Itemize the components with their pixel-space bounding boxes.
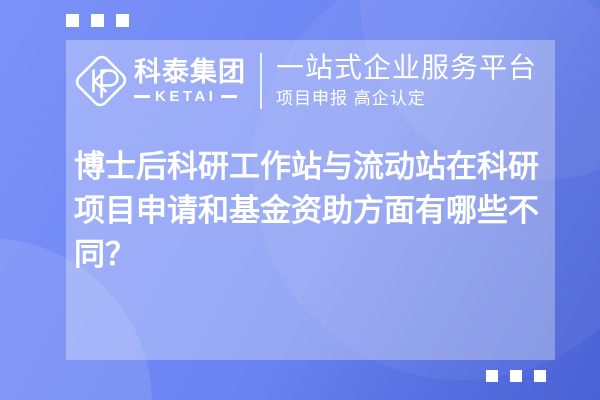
decorative-dots-bottom-right (486, 370, 546, 382)
square-dot-icon (486, 370, 498, 382)
square-dot-icon (91, 14, 104, 27)
brand-divider (260, 53, 262, 109)
brand-rule-right-icon (221, 95, 237, 98)
tagline-block: 一站式企业服务平台 项目申报 高企认定 (276, 52, 537, 109)
brand-rule-left-icon (134, 95, 150, 98)
brand-names: 科泰集团 KETAI (134, 58, 246, 104)
brand-name-cn: 科泰集团 (134, 58, 246, 86)
brand-name-en: KETAI (155, 89, 216, 104)
square-dot-icon (510, 370, 522, 382)
tagline-main: 一站式企业服务平台 (276, 52, 537, 84)
content-panel: 科泰集团 KETAI 一站式企业服务平台 项目申报 高企认定 博士后科研工作站与… (66, 40, 555, 360)
square-dot-icon (534, 370, 546, 382)
ketai-diamond-monogram-icon (74, 54, 128, 108)
brand-header: 科泰集团 KETAI 一站式企业服务平台 项目申报 高企认定 (72, 45, 537, 117)
page-title: 博士后科研工作站与流动站在科研项目申请和基金资助方面有哪些不同？ (74, 145, 544, 277)
square-dot-icon (66, 14, 79, 27)
brand-name-en-row: KETAI (134, 89, 246, 104)
poster-canvas: 科泰集团 KETAI 一站式企业服务平台 项目申报 高企认定 博士后科研工作站与… (0, 0, 600, 400)
decorative-dots-top-left (66, 14, 129, 27)
square-dot-icon (116, 14, 129, 27)
tagline-sub: 项目申报 高企认定 (276, 88, 537, 109)
